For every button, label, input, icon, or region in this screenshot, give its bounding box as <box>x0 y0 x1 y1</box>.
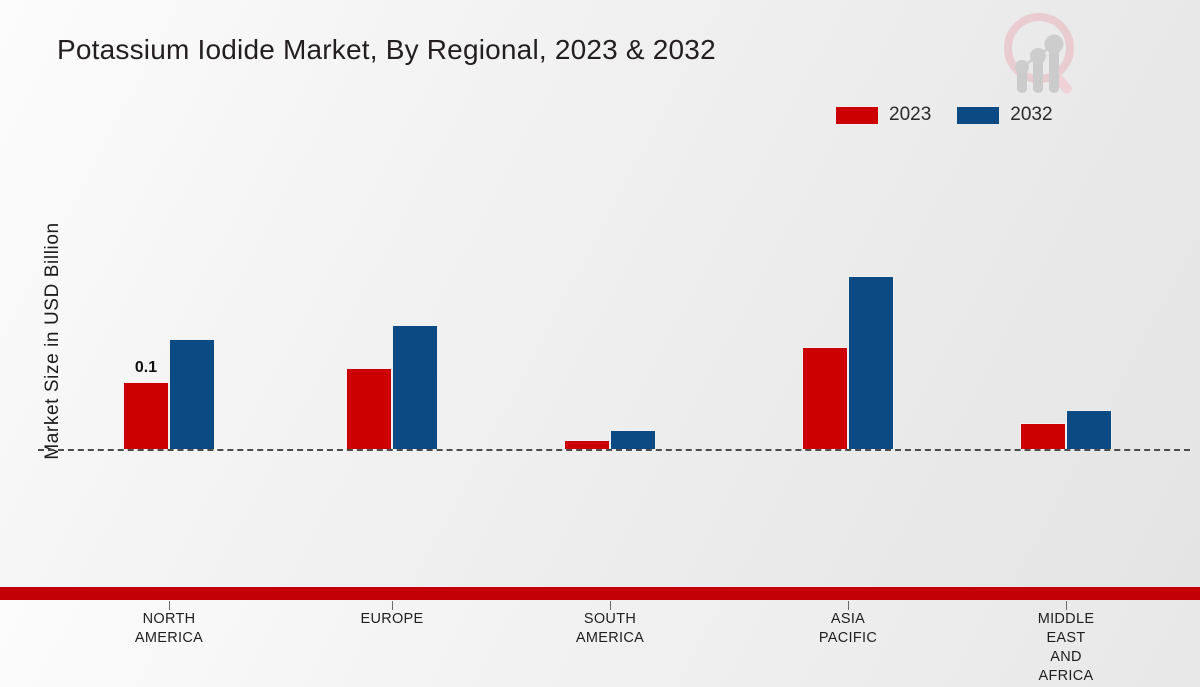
bar-pair <box>346 150 438 450</box>
x-axis-label-line: ASIA <box>773 610 923 629</box>
bar-pair <box>564 150 656 450</box>
x-axis-label: NORTHAMERICA <box>94 610 244 648</box>
x-axis-label-line: AFRICA <box>991 667 1141 686</box>
footer-accent-band <box>0 587 1200 600</box>
bar-2032-south-america[interactable] <box>610 430 656 450</box>
x-axis-label: EUROPE <box>317 610 467 629</box>
bar-2032-middle-east-and-africa[interactable] <box>1066 410 1112 450</box>
legend-item-2032[interactable]: 2032 <box>957 104 1052 126</box>
chart-legend: 2023 2032 <box>836 104 1053 126</box>
legend-swatch-2032 <box>957 107 999 124</box>
x-axis-tick <box>1066 601 1067 610</box>
x-axis-label-line: MIDDLE <box>991 610 1141 629</box>
legend-swatch-2023 <box>836 107 878 124</box>
x-axis-tick <box>848 601 849 610</box>
bar-2032-asia-pacific[interactable] <box>848 276 894 450</box>
x-axis-baseline <box>38 449 1190 451</box>
chart-container: Potassium Iodide Market, By Regional, 20… <box>0 0 1200 600</box>
bar-group <box>1020 150 1112 450</box>
x-axis-label-line: PACIFIC <box>773 629 923 648</box>
bar-2023-europe[interactable] <box>346 368 392 450</box>
bar-pair <box>802 150 894 450</box>
plot-area: 0.1NORTHAMERICAEUROPESOUTHAMERICAASIAPAC… <box>38 150 1190 450</box>
bar-group <box>346 150 438 450</box>
x-axis-label-line: NORTH <box>94 610 244 629</box>
x-axis-label-line: EUROPE <box>317 610 467 629</box>
legend-label-2023: 2023 <box>889 104 931 126</box>
x-axis-label-line: EAST <box>991 629 1141 648</box>
x-axis-label: SOUTHAMERICA <box>535 610 685 648</box>
x-axis-label-line: AND <box>991 648 1141 667</box>
x-axis-label-line: AMERICA <box>535 629 685 648</box>
bar-2032-north-america[interactable] <box>169 339 215 450</box>
x-axis-tick <box>610 601 611 610</box>
brand-watermark-logo <box>988 6 1094 102</box>
legend-item-2023[interactable]: 2023 <box>836 104 931 126</box>
bar-group <box>802 150 894 450</box>
bar-pair <box>1020 150 1112 450</box>
bar-group: 0.1 <box>123 150 215 450</box>
legend-label-2032: 2032 <box>1010 104 1052 126</box>
x-axis-tick <box>169 601 170 610</box>
chart-title: Potassium Iodide Market, By Regional, 20… <box>57 34 716 66</box>
x-axis-label-line: AMERICA <box>94 629 244 648</box>
bar-2023-middle-east-and-africa[interactable] <box>1020 423 1066 450</box>
x-axis-tick <box>392 601 393 610</box>
x-axis-label-line: SOUTH <box>535 610 685 629</box>
bar-group <box>564 150 656 450</box>
bar-2023-asia-pacific[interactable] <box>802 347 848 450</box>
bar-2032-europe[interactable] <box>392 325 438 450</box>
x-axis-label: ASIAPACIFIC <box>773 610 923 648</box>
bar-pair: 0.1 <box>123 150 215 450</box>
bar-2023-north-america[interactable]: 0.1 <box>123 382 169 450</box>
x-axis-label: MIDDLEEASTANDAFRICA <box>991 610 1141 687</box>
bar-data-label: 0.1 <box>135 359 157 377</box>
